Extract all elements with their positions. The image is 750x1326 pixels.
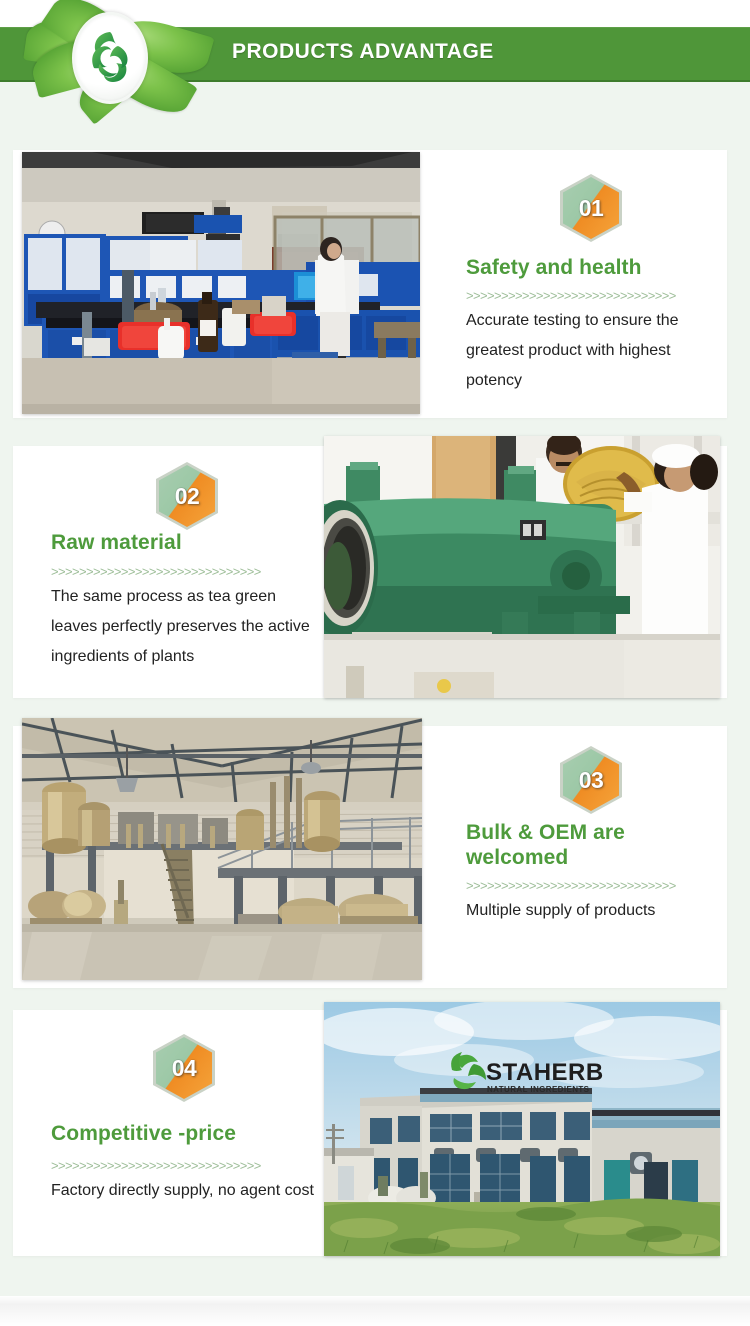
advantage-panel-3: 03 Bulk & OEM are welcomed >>>>>>>>>>>>>…: [431, 726, 727, 988]
roasting-machine-photo: [324, 436, 720, 698]
logo-swirl-icon: [80, 24, 140, 92]
step-badge-03: 03: [560, 746, 622, 814]
step-number: 02: [156, 462, 218, 530]
step-badge-02: 02: [156, 462, 218, 530]
step-number: 01: [560, 174, 622, 242]
advantage-card-2: 02 Raw material >>>>>>>>>>>>>>>>>>>>>>>>…: [13, 446, 727, 698]
factory-building-photo: STAHERB NATURAL INGREDIENTS: [324, 1002, 720, 1256]
step-badge-04: 04: [153, 1034, 215, 1102]
advantage-body-2: The same process as tea green leaves per…: [51, 582, 326, 672]
page-header: PRODUCTS ADVANTAGE: [0, 0, 750, 118]
advantage-title-1: Safety and health: [466, 255, 726, 280]
advantage-panel-4: 04 Competitive -price >>>>>>>>>>>>>>>>>>…: [13, 1010, 324, 1256]
advantage-title-4: Competitive -price: [51, 1121, 316, 1146]
svg-text:NATURAL INGREDIENTS: NATURAL INGREDIENTS: [487, 1085, 590, 1094]
advantage-title-3: Bulk & OEM are welcomed: [466, 820, 696, 870]
chevron-divider-1: >>>>>>>>>>>>>>>>>>>>>>>>>>>>>>: [466, 288, 676, 303]
svg-text:STAHERB: STAHERB: [486, 1059, 604, 1086]
advantage-body-3: Multiple supply of products: [466, 896, 731, 926]
advantage-card-3: 03 Bulk & OEM are welcomed >>>>>>>>>>>>>…: [13, 726, 727, 988]
advantage-card-4: STAHERB NATURAL INGREDIENTS: [13, 1010, 727, 1256]
advantage-title-2: Raw material: [51, 530, 311, 555]
lab-photo: [22, 152, 420, 414]
advantage-body-4: Factory directly supply, no agent cost: [51, 1176, 316, 1206]
chevron-divider-4: >>>>>>>>>>>>>>>>>>>>>>>>>>>>>>: [51, 1158, 261, 1173]
advantage-body-1: Accurate testing to ensure the greatest …: [466, 306, 731, 396]
advantage-panel-1: 01 Safety and health >>>>>>>>>>>>>>>>>>>…: [431, 150, 727, 418]
factory-interior-photo: [22, 718, 422, 980]
staherb-leaf-logo: [22, 2, 222, 114]
chevron-divider-2: >>>>>>>>>>>>>>>>>>>>>>>>>>>>>>: [51, 564, 261, 579]
page-title: PRODUCTS ADVANTAGE: [232, 40, 494, 64]
advantage-panel-2: 02 Raw material >>>>>>>>>>>>>>>>>>>>>>>>…: [13, 446, 324, 698]
step-badge-01: 01: [560, 174, 622, 242]
page-bottom-edge: [0, 1296, 750, 1326]
products-advantage-page: PRODUCTS ADVANTAGE: [0, 0, 750, 1326]
step-number: 03: [560, 746, 622, 814]
step-number: 04: [153, 1034, 215, 1102]
advantage-card-1: 01 Safety and health >>>>>>>>>>>>>>>>>>>…: [13, 150, 727, 418]
chevron-divider-3: >>>>>>>>>>>>>>>>>>>>>>>>>>>>>>: [466, 878, 676, 893]
